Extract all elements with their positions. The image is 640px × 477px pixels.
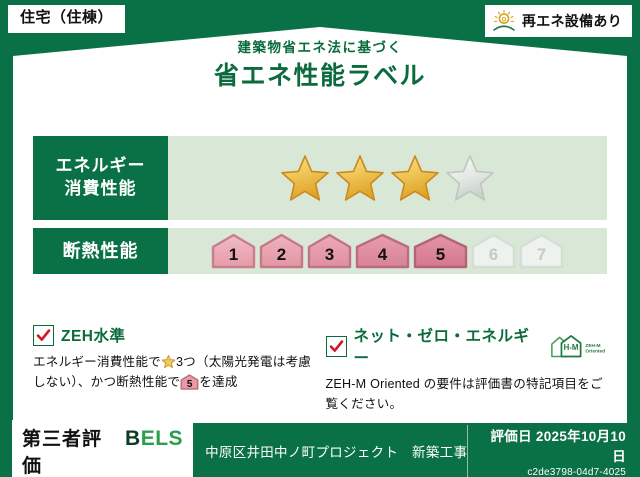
zeh-standard-heading: ZEH水準 — [33, 324, 314, 346]
insulation-level-badge: 3 — [307, 233, 352, 269]
bels-letters-els: ELS — [141, 427, 183, 450]
check-icon-svg — [36, 328, 51, 343]
insulation-performance-row: 断熱性能 1 — [33, 228, 607, 274]
certificate-id: c2de3798-04d7-4025 — [480, 467, 626, 477]
insulation-level-number: 4 — [378, 246, 387, 267]
footer-bar: 第三者評価 BELS 中原区井田中ノ町プロジェクト 新築工事 評価日 2025年… — [0, 425, 640, 477]
insulation-level-number: 5 — [436, 246, 445, 267]
net-zero-energy-heading: ネット・ゼロ・エネルギー H-M ZEH-M Oriented — [326, 324, 607, 368]
insulation-performance-label-line1: 断熱性能 — [63, 239, 139, 263]
energy-performance-label-line1: エネルギー — [56, 155, 146, 178]
renewable-energy-tag: D 再エネ設備あり — [485, 5, 632, 37]
insulation-level-badge: 4 — [355, 233, 410, 269]
svg-text:ZEH-M: ZEH-M — [585, 343, 600, 349]
zeh-m-oriented-logo: H-M ZEH-M Oriented — [549, 333, 607, 359]
evaluation-date: 評価日 2025年10月10日 — [480, 425, 626, 465]
insulation-level-badge-inactive: 7 — [519, 233, 564, 269]
energy-performance-value — [168, 136, 607, 220]
star-icon-empty — [443, 152, 497, 204]
insulation-level-badge-inactive: 6 — [471, 233, 516, 269]
energy-performance-row: エネルギー 消費性能 — [33, 136, 607, 220]
building-type-tag: 住宅（住棟） — [8, 5, 125, 33]
zeh-body-part3: を達成 — [199, 375, 237, 389]
sun-renewable-icon-svg: D — [491, 9, 517, 33]
insulation-level-number: 7 — [537, 246, 546, 267]
svg-text:D: D — [502, 17, 507, 23]
zeh-standard-note: ZEH水準 エネルギー消費性能で3つ（太陽光発電は考慮しない）、かつ断熱性能で5… — [33, 324, 322, 415]
insulation-level-number: 3 — [325, 246, 334, 267]
inline-badge-number: 5 — [180, 380, 199, 390]
net-zero-energy-note: ネット・ゼロ・エネルギー H-M ZEH-M Oriented ZEH-M Or… — [322, 324, 615, 415]
notes-section: ZEH水準 エネルギー消費性能で3つ（太陽光発電は考慮しない）、かつ断熱性能で5… — [33, 324, 614, 415]
rating-rows: エネルギー 消費性能 — [33, 136, 607, 282]
evaluation-info: 評価日 2025年10月10日 c2de3798-04d7-4025 — [467, 425, 626, 477]
insulation-performance-value: 1 2 — [168, 228, 607, 274]
building-type-label: 住宅（住棟） — [20, 9, 113, 26]
insulation-performance-label: 断熱性能 — [33, 228, 168, 274]
label-main-title: 省エネ性能ラベル — [0, 60, 640, 93]
sun-renewable-icon: D — [491, 9, 517, 33]
net-zero-energy-title: ネット・ゼロ・エネルギー — [354, 324, 538, 368]
net-zero-energy-body: ZEH-M Oriented の要件は評価書の特記項目をご覧ください。 — [326, 374, 607, 415]
zeh-standard-body: エネルギー消費性能で3つ（太陽光発電は考慮しない）、かつ断熱性能で5を達成 — [33, 352, 314, 393]
bels-letter-b: B — [125, 427, 141, 450]
star-rating — [278, 152, 497, 204]
insulation-level-scale: 1 2 — [211, 233, 564, 269]
project-name: 中原区井田中ノ町プロジェクト 新築工事 — [205, 441, 467, 461]
bels-en-label: BELS — [125, 427, 183, 451]
check-icon — [326, 336, 347, 357]
insulation-level-badge-achieved: 5 — [413, 233, 468, 269]
energy-performance-label-card: 住宅（住棟） D 再エネ設備あり 建築物 — [0, 0, 640, 477]
insulation-level-badge: 1 — [211, 233, 256, 269]
check-icon — [33, 325, 54, 346]
energy-performance-label-line2: 消費性能 — [65, 178, 137, 201]
label-subtitle: 建築物省エネ法に基づく — [0, 40, 640, 56]
renewable-energy-label: 再エネ設備あり — [522, 11, 622, 31]
svg-text:Oriented: Oriented — [585, 348, 605, 354]
house-badge-icon-inline: 5 — [180, 374, 199, 390]
star-icon — [278, 152, 332, 204]
star-icon — [161, 354, 176, 369]
insulation-level-number: 6 — [489, 246, 498, 267]
insulation-level-number: 2 — [277, 246, 286, 267]
zeh-body-part1: エネルギー消費性能で — [33, 355, 161, 369]
label-title-block: 建築物省エネ法に基づく 省エネ性能ラベル — [0, 40, 640, 93]
insulation-level-number: 1 — [229, 246, 238, 267]
bels-jp-label: 第三者評価 — [22, 424, 118, 477]
check-icon-svg — [329, 339, 344, 354]
energy-performance-label: エネルギー 消費性能 — [33, 136, 168, 220]
zeh-standard-title: ZEH水準 — [61, 324, 126, 346]
insulation-level-badge: 2 — [259, 233, 304, 269]
bels-certification-badge: 第三者評価 BELS — [12, 420, 193, 477]
star-icon — [388, 152, 442, 204]
svg-text:H-M: H-M — [563, 343, 578, 352]
star-icon — [333, 152, 387, 204]
